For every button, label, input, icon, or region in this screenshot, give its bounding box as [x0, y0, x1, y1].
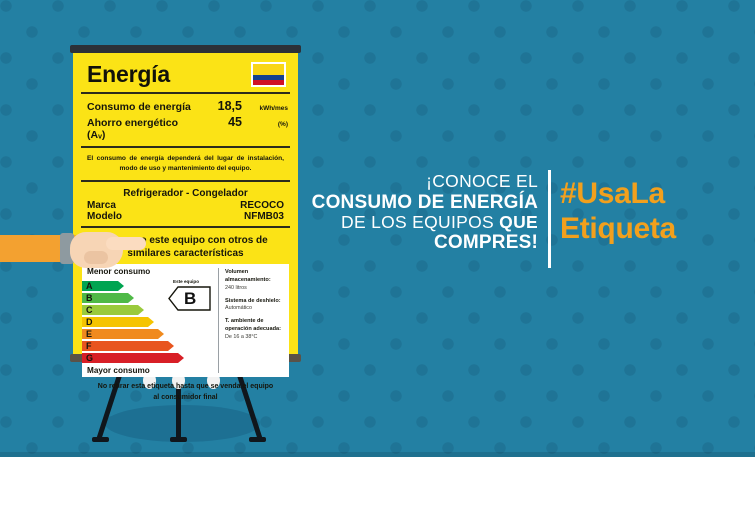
consumption-row: Consumo de energía 18,5 kWh/mes: [81, 98, 290, 114]
savings-label: Ahorro energético (Aᵥ): [87, 117, 198, 141]
colombia-flag-icon: [251, 62, 286, 87]
spec-value: 240 litros: [225, 285, 285, 293]
spec-title: Volumen almacenamiento:: [225, 269, 285, 285]
divider: [81, 92, 290, 94]
hand-thumb: [84, 251, 108, 264]
label-title: Energía: [87, 61, 170, 88]
headline-line-3-normal: DE LOS EQUIPOS: [341, 212, 499, 232]
vertical-divider: [548, 170, 551, 268]
energy-label-board: Energía Consumo de energía 18,5 kWh/mes …: [73, 45, 298, 362]
spec-temperature: T. ambiente de operación adecuada: De 16…: [225, 318, 285, 341]
bar-letter: G: [86, 352, 93, 364]
label-disclaimer: No retirar esta etiqueta hasta que se ve…: [81, 377, 290, 402]
consumption-unit: kWh/mes: [242, 105, 288, 112]
rating-badge: Este equipo B: [168, 286, 211, 312]
spec-value: De 16 a 38°C: [225, 334, 285, 342]
appliance-type: Refrigerador - Congelador: [81, 186, 290, 200]
hashtag-line-1: #UsaLa: [560, 176, 676, 211]
bar-e: E: [82, 329, 214, 339]
energy-label: Energía Consumo de energía 18,5 kWh/mes …: [73, 53, 298, 354]
easel-foot-left: [92, 437, 109, 442]
poster-canvas: Energía Consumo de energía 18,5 kWh/mes …: [0, 0, 755, 516]
easel-foot-center: [170, 437, 187, 442]
headline-line-3-bold: QUE: [499, 212, 538, 232]
brand-value: RECOCO: [240, 200, 284, 211]
label-header: Energía: [81, 59, 290, 88]
consumption-value: 18,5: [198, 99, 242, 113]
hand-index-finger: [106, 237, 146, 250]
spec-value: Automático: [225, 305, 285, 313]
bar-f: F: [82, 341, 214, 351]
bar-letter: C: [86, 304, 93, 316]
savings-value: 45: [198, 115, 242, 129]
footer-bar: #UsaLaEtiqueta MINMINAS upme Unidad de P…: [0, 457, 755, 516]
brand-row: Marca RECOCO: [81, 200, 290, 211]
bar-d: D: [82, 317, 214, 327]
pointing-hand-illustration: [0, 229, 150, 291]
headline-line-4: COMPRES!: [300, 232, 538, 253]
model-value: NFMB03: [244, 211, 284, 222]
headline-line-1: ¡CONOCE EL: [300, 172, 538, 192]
label-note: El consumo de energía dependerá del luga…: [81, 152, 290, 176]
divider: [81, 146, 290, 148]
brand-label: Marca: [87, 200, 116, 211]
headline-line-2: CONSUMO DE ENERGÍA: [300, 192, 538, 213]
bar-g: G: [82, 353, 214, 363]
spec-title: T. ambiente de operación adecuada:: [225, 318, 285, 334]
easel-foot-right: [249, 437, 266, 442]
appliance-specs: Volumen almacenamiento: 240 litros Siste…: [219, 264, 289, 377]
headline: ¡CONOCE EL CONSUMO DE ENERGÍA DE LOS EQU…: [300, 172, 538, 254]
bar-letter: E: [86, 328, 92, 340]
savings-unit: (%): [242, 121, 288, 128]
rating-badge-caption: Este equipo: [173, 279, 199, 284]
hashtag-line-2: Etiqueta: [560, 211, 676, 246]
bar-letter: D: [86, 316, 93, 328]
spec-volume: Volumen almacenamiento: 240 litros: [225, 269, 285, 292]
model-label: Modelo: [87, 211, 122, 222]
mayor-consumo-label: Mayor consumo: [87, 366, 150, 375]
headline-line-3: DE LOS EQUIPOS QUE: [300, 213, 538, 233]
consumption-label: Consumo de energía: [87, 101, 198, 113]
spec-defrost: Sistema de deshielo: Automático: [225, 298, 285, 313]
divider: [81, 180, 290, 182]
bar-letter: B: [86, 292, 93, 304]
campaign-hashtag: #UsaLa Etiqueta: [560, 176, 676, 247]
spec-title: Sistema de deshielo:: [225, 298, 285, 306]
savings-row: Ahorro energético (Aᵥ) 45 (%): [81, 114, 290, 142]
bar-letter: F: [86, 340, 92, 352]
model-row: Modelo NFMB03: [81, 211, 290, 222]
rating-badge-letter: B: [184, 288, 196, 309]
board-top-clamp: [70, 45, 301, 53]
